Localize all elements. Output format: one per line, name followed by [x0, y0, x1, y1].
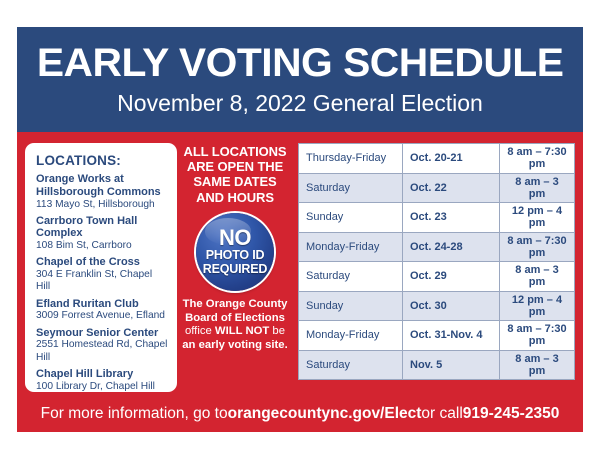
cell-hours: 8 am – 3 pm [500, 350, 575, 380]
cell-hours: 8 am – 3 pm [500, 262, 575, 292]
board-of-elections-note: The Orange County Board of Elections off… [181, 298, 289, 353]
page-subtitle: November 8, 2022 General Election [117, 92, 483, 115]
footer-phone[interactable]: 919-245-2350 [463, 405, 560, 423]
table-row: Saturday Oct. 22 8 am – 3 pm [299, 173, 575, 203]
location-item: Carrboro Town Hall Complex 108 Bim St, C… [36, 215, 168, 253]
note-line-3: office WILL NOT be [181, 325, 289, 339]
cell-day: Saturday [299, 350, 403, 380]
table-row: Sunday Oct. 30 12 pm – 4 pm [299, 291, 575, 321]
footer-website-link[interactable]: orangecountync.gov/Elect [228, 405, 422, 423]
no-photo-id-required-badge-icon: NO PHOTO ID REQUIRED [196, 213, 274, 291]
poster-header: EARLY VOTING SCHEDULE November 8, 2022 G… [17, 27, 583, 132]
location-name: Chapel of the Cross [36, 256, 168, 269]
table-row: Sunday Oct. 23 12 pm – 4 pm [299, 203, 575, 233]
table-row: Saturday Oct. 29 8 am – 3 pm [299, 262, 575, 292]
location-address: 113 Mayo St, Hillsborough [36, 199, 168, 211]
cell-day: Monday-Friday [299, 232, 403, 262]
cell-date: Oct. 23 [403, 203, 500, 233]
footer-middle: or call [421, 405, 462, 423]
note-line-3-suffix: be [269, 325, 285, 337]
cell-hours: 12 pm – 4 pm [500, 291, 575, 321]
all-locations-line-4: AND HOURS [181, 190, 289, 205]
badge-line-1: NO [219, 228, 251, 248]
badge-line-3: REQUIRED [203, 263, 267, 276]
cell-hours: 8 am – 3 pm [500, 173, 575, 203]
note-line-3-prefix: office [185, 325, 215, 337]
location-name: Orange Works at Hillsborough Commons [36, 173, 168, 199]
poster-footer: For more information, go to orangecounty… [17, 394, 583, 432]
cell-day: Thursday-Friday [299, 144, 403, 174]
cell-day: Saturday [299, 173, 403, 203]
all-locations-line-3: SAME DATES [181, 174, 289, 189]
location-address: 2551 Homestead Rd, Chapel Hill [36, 339, 168, 363]
early-voting-poster: EARLY VOTING SCHEDULE November 8, 2022 G… [17, 27, 583, 432]
cell-date: Oct. 24-28 [403, 232, 500, 262]
table-row: Thursday-Friday Oct. 20-21 8 am – 7:30 p… [299, 144, 575, 174]
location-address: 3009 Forrest Avenue, Efland [36, 310, 168, 322]
note-line-3-emphasis: WILL NOT [215, 325, 269, 337]
cell-date: Oct. 22 [403, 173, 500, 203]
location-address: 100 Library Dr, Chapel Hill [36, 381, 168, 393]
all-locations-line-1: ALL LOCATIONS [181, 144, 289, 159]
poster-body: LOCATIONS: Orange Works at Hillsborough … [17, 132, 583, 394]
middle-column: ALL LOCATIONS ARE OPEN THE SAME DATES AN… [177, 143, 293, 353]
location-item: Chapel Hill Library 100 Library Dr, Chap… [36, 368, 168, 393]
location-name: Carrboro Town Hall Complex [36, 215, 168, 241]
locations-heading: LOCATIONS: [36, 153, 168, 168]
all-locations-notice: ALL LOCATIONS ARE OPEN THE SAME DATES AN… [181, 144, 289, 205]
location-item: Efland Ruritan Club 3009 Forrest Avenue,… [36, 298, 168, 323]
location-name: Seymour Senior Center [36, 327, 168, 340]
note-line-2: Board of Elections [181, 312, 289, 326]
cell-date: Nov. 5 [403, 350, 500, 380]
note-line-4: an early voting site. [181, 339, 289, 353]
table-row: Monday-Friday Oct. 31-Nov. 4 8 am – 7:30… [299, 321, 575, 351]
cell-day: Saturday [299, 262, 403, 292]
cell-date: Oct. 31-Nov. 4 [403, 321, 500, 351]
cell-date: Oct. 20-21 [403, 144, 500, 174]
cell-day: Sunday [299, 203, 403, 233]
page-title: EARLY VOTING SCHEDULE [37, 43, 564, 83]
cell-day: Monday-Friday [299, 321, 403, 351]
locations-card: LOCATIONS: Orange Works at Hillsborough … [25, 143, 177, 392]
cell-hours: 8 am – 7:30 pm [500, 232, 575, 262]
location-item: Seymour Senior Center 2551 Homestead Rd,… [36, 327, 168, 364]
badge-line-2: PHOTO ID [206, 249, 265, 262]
cell-hours: 8 am – 7:30 pm [500, 144, 575, 174]
location-item: Orange Works at Hillsborough Commons 113… [36, 173, 168, 211]
cell-date: Oct. 29 [403, 262, 500, 292]
badge-container: NO PHOTO ID REQUIRED [181, 213, 289, 291]
location-item: Chapel of the Cross 304 E Franklin St, C… [36, 256, 168, 293]
note-line-1: The Orange County [181, 298, 289, 312]
location-address: 108 Bim St, Carrboro [36, 240, 168, 252]
table-row: Saturday Nov. 5 8 am – 3 pm [299, 350, 575, 380]
footer-prefix: For more information, go to [41, 405, 228, 423]
cell-day: Sunday [299, 291, 403, 321]
location-name: Chapel Hill Library [36, 368, 168, 381]
cell-hours: 8 am – 7:30 pm [500, 321, 575, 351]
schedule-table: Thursday-Friday Oct. 20-21 8 am – 7:30 p… [298, 143, 575, 380]
table-row: Monday-Friday Oct. 24-28 8 am – 7:30 pm [299, 232, 575, 262]
location-name: Efland Ruritan Club [36, 298, 168, 311]
location-address: 304 E Franklin St, Chapel Hill [36, 269, 168, 293]
all-locations-line-2: ARE OPEN THE [181, 159, 289, 174]
cell-hours: 12 pm – 4 pm [500, 203, 575, 233]
cell-date: Oct. 30 [403, 291, 500, 321]
